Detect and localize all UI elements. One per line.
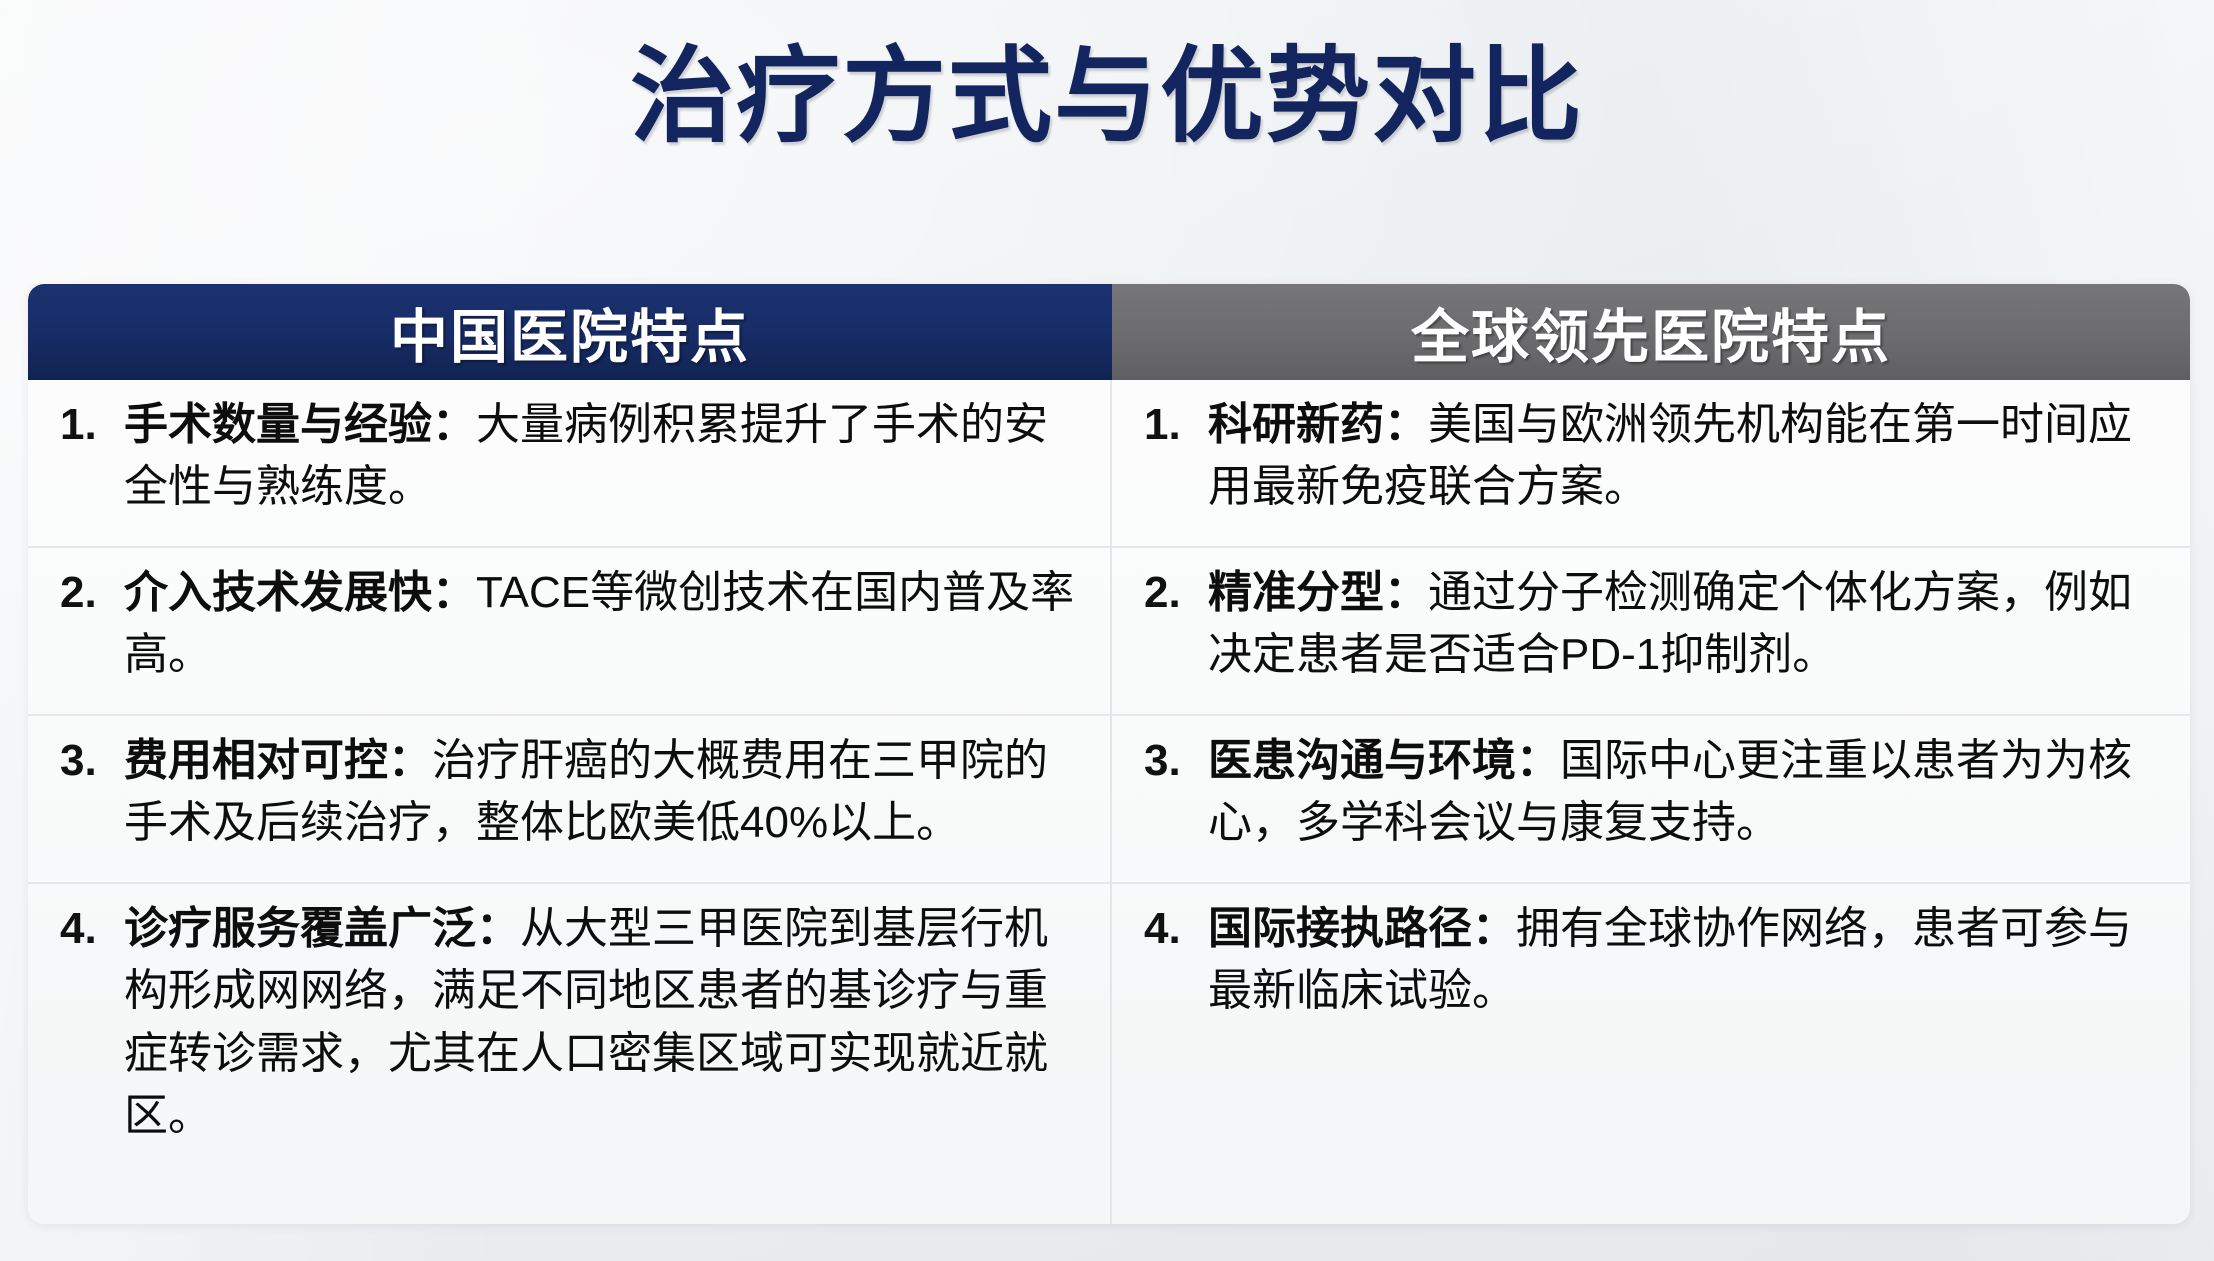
table-body: 1. 手术数量与经验：大量病例积累提升了手术的安全性与熟练度。 2. 介入技术发… [28,380,2190,1224]
list-item-text: 精准分型：通过分子检测确定个体化方案，例如决定患者是否适合PD-1抑制剂。 [1208,562,2164,687]
list-item-text: 费用相对可控：治疗肝癌的大概费用在三甲院的手术及后续治疗，整体比欧美低40%以上… [124,730,1084,855]
list-item: 3. 医患沟通与环境：国际中心更注重以患者为为核心，多学科会议与康复支持。 [1112,716,2190,884]
list-item-term: 医患沟通与环境： [1208,736,1560,785]
list-item-number: 1. [1136,394,1208,456]
list-item-number: 4. [52,898,124,960]
list-item-term: 介入技术发展快： [124,568,476,617]
list-item-text: 国际接执路径：拥有全球协作网络，患者可参与最新临床试验。 [1208,898,2164,1023]
list-item-number: 1. [52,394,124,456]
list-item-text: 诊疗服务覆盖广泛：从大型三甲医院到基层行机构形成网网络，满足不同地区患者的基诊疗… [124,898,1084,1148]
list-item-term: 手术数量与经验： [124,400,476,449]
column-china-hospitals: 1. 手术数量与经验：大量病例积累提升了手术的安全性与熟练度。 2. 介入技术发… [28,380,1112,1224]
table-header-row: 中国医院特点 全球领先医院特点 [28,284,2190,380]
list-item-number: 4. [1136,898,1208,960]
column-global-leading-hospitals: 1. 科研新药：美国与欧洲领先机构能在第一时间应用最新免疫联合方案。 2. 精准… [1112,380,2190,1224]
list-item-number: 2. [1136,562,1208,624]
list-item: 1. 科研新药：美国与欧洲领先机构能在第一时间应用最新免疫联合方案。 [1112,380,2190,548]
column-header-china-hospitals: 中国医院特点 [28,284,1112,380]
list-item-term: 诊疗服务覆盖广泛： [124,904,520,953]
list-item-term: 精准分型： [1208,568,1428,617]
page-title: 治疗方式与优势对比 [0,36,2214,159]
list-item-term: 费用相对可控： [124,736,432,785]
list-item: 1. 手术数量与经验：大量病例积累提升了手术的安全性与熟练度。 [28,380,1110,548]
list-item: 4. 国际接执路径：拥有全球协作网络，患者可参与最新临床试验。 [1112,884,2190,1224]
comparison-table-card: 中国医院特点 全球领先医院特点 1. 手术数量与经验：大量病例积累提升了手术的安… [28,284,2190,1224]
column-header-global-leading-hospitals: 全球领先医院特点 [1112,284,2190,380]
list-item-text: 介入技术发展快：TACE等微创技术在国内普及率高。 [124,562,1084,687]
list-item-number: 3. [1136,730,1208,792]
list-item-text: 医患沟通与环境：国际中心更注重以患者为为核心，多学科会议与康复支持。 [1208,730,2164,855]
list-item-number: 3. [52,730,124,792]
list-item-term: 国际接执路径： [1208,904,1516,953]
list-item-text: 手术数量与经验：大量病例积累提升了手术的安全性与熟练度。 [124,394,1084,519]
list-item-term: 科研新药： [1208,400,1428,449]
list-item-number: 2. [52,562,124,624]
list-item: 2. 精准分型：通过分子检测确定个体化方案，例如决定患者是否适合PD-1抑制剂。 [1112,548,2190,716]
list-item-text: 科研新药：美国与欧洲领先机构能在第一时间应用最新免疫联合方案。 [1208,394,2164,519]
list-item: 3. 费用相对可控：治疗肝癌的大概费用在三甲院的手术及后续治疗，整体比欧美低40… [28,716,1110,884]
list-item: 2. 介入技术发展快：TACE等微创技术在国内普及率高。 [28,548,1110,716]
list-item: 4. 诊疗服务覆盖广泛：从大型三甲医院到基层行机构形成网网络，满足不同地区患者的… [28,884,1110,1224]
